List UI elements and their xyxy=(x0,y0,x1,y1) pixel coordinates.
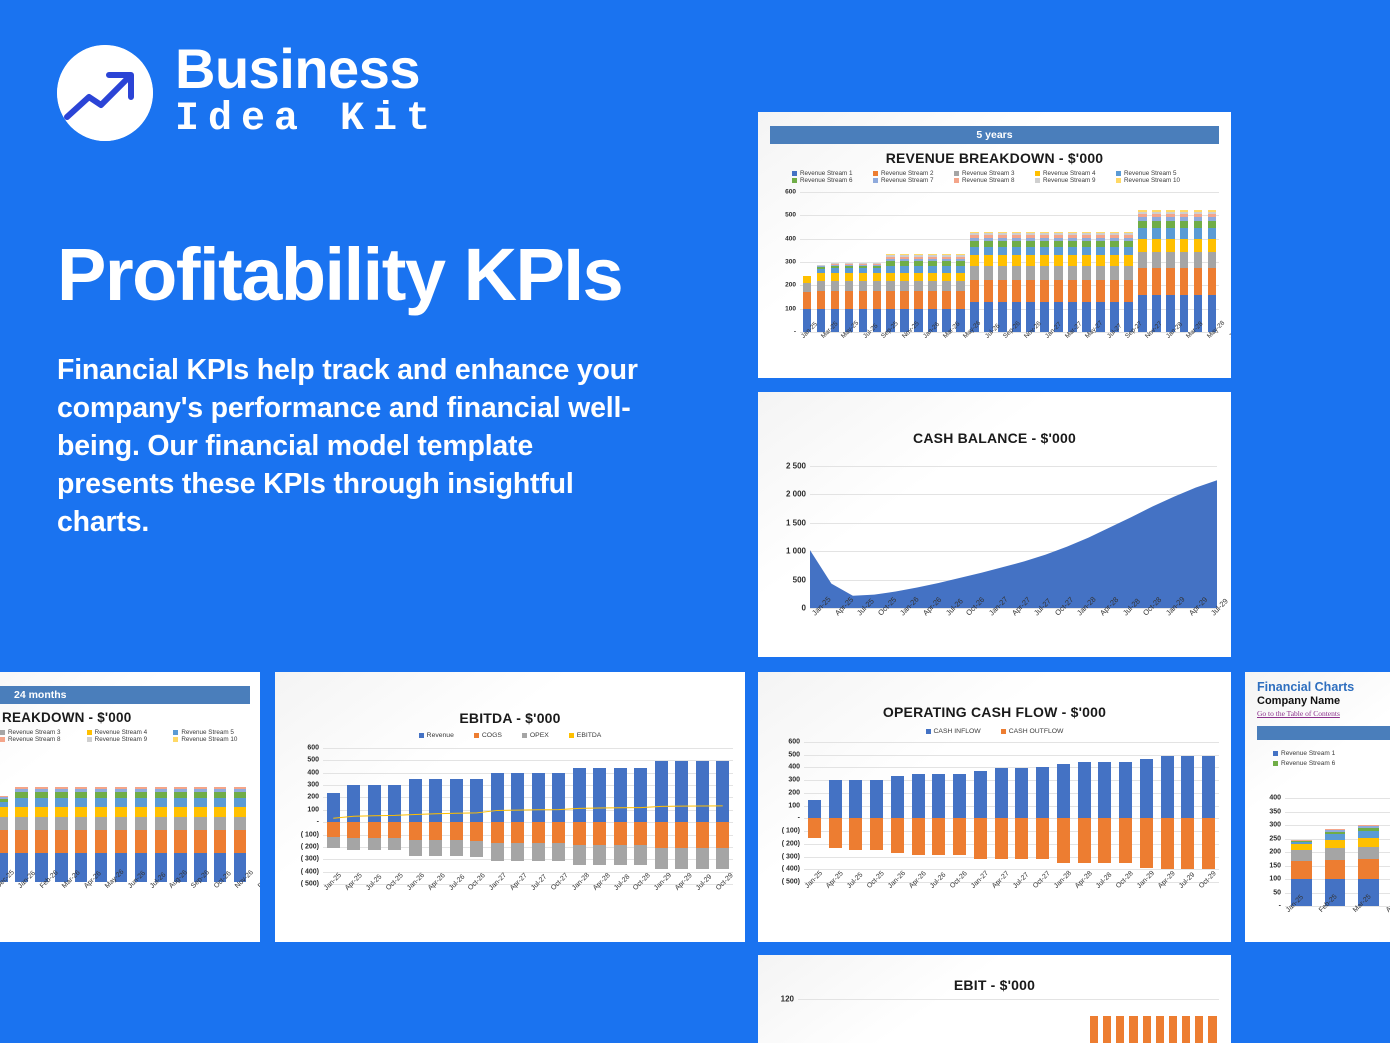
bar-segment xyxy=(1202,818,1215,869)
bar-column xyxy=(1193,999,1206,1043)
line-series xyxy=(323,748,733,884)
bar-segment xyxy=(1181,756,1194,819)
bar-column xyxy=(1140,999,1153,1043)
bar-column xyxy=(825,742,846,882)
bar-segment xyxy=(95,798,107,807)
legend-label: Revenue Stream 5 xyxy=(1124,170,1177,177)
bar-segment xyxy=(1208,221,1217,228)
bar-column xyxy=(171,764,191,882)
bar-segment xyxy=(891,818,904,852)
bar-segment xyxy=(194,807,206,817)
bar-column xyxy=(1012,742,1033,882)
table-of-contents-link[interactable]: Go to the Table of Contents xyxy=(1257,709,1390,718)
bar-segment xyxy=(998,266,1007,280)
bar-segment xyxy=(998,280,1007,302)
bar-segment xyxy=(984,266,993,280)
bar-column xyxy=(1074,742,1095,882)
bar-segment xyxy=(1040,280,1049,302)
legend-item: Revenue Stream 8 xyxy=(954,177,1035,184)
bar-column xyxy=(0,764,12,882)
y-axis-tick: ( 200) xyxy=(301,843,319,850)
company-name: Company Name xyxy=(1257,695,1390,707)
bar-column xyxy=(1149,192,1163,332)
bar-column xyxy=(811,999,824,1043)
bar-segment xyxy=(95,807,107,817)
panel-ebit: EBIT - $'000 12010080 xyxy=(758,955,1231,1043)
bar-column xyxy=(887,742,908,882)
legend-item: Revenue Stream 5 xyxy=(173,729,260,736)
bar-segment xyxy=(1208,239,1217,252)
bar-column xyxy=(1136,742,1157,882)
legend-swatch xyxy=(1116,171,1121,176)
y-axis-tick: 600 xyxy=(785,189,796,196)
x-axis-tick: Jul-28 xyxy=(1228,322,1231,339)
bar-segment xyxy=(1325,848,1346,859)
y-axis-tick: 2 500 xyxy=(786,462,806,471)
bar-column xyxy=(866,742,887,882)
y-axis-tick: ( 500) xyxy=(301,881,319,888)
bar-column xyxy=(151,764,171,882)
bar-segment xyxy=(1152,221,1161,228)
bar-segment xyxy=(1182,1016,1190,1043)
bar-segment xyxy=(1078,818,1091,863)
bar-segment xyxy=(873,281,882,292)
bar-column xyxy=(828,192,842,332)
bar-segment xyxy=(1161,756,1174,819)
bar-column xyxy=(1053,742,1074,882)
bar-segment xyxy=(1054,266,1063,280)
bar-segment xyxy=(998,247,1007,256)
legend-swatch xyxy=(474,733,479,738)
bar-segment xyxy=(174,830,186,852)
bar-segment xyxy=(1119,818,1132,863)
legend-item: EBITDA xyxy=(569,732,602,739)
bar-segment xyxy=(912,818,925,854)
bar-column xyxy=(1035,999,1048,1043)
bar-segment xyxy=(1015,818,1028,859)
bar-column xyxy=(1095,742,1116,882)
bar-column xyxy=(1010,192,1024,332)
bar-column xyxy=(798,999,811,1043)
legend-item: Revenue Stream 10 xyxy=(1116,177,1197,184)
bar-column xyxy=(842,192,856,332)
legend-item: Revenue Stream 4 xyxy=(1035,170,1116,177)
legend-item: Revenue Stream 5 xyxy=(1116,170,1197,177)
legend-item: Revenue Stream 8 xyxy=(0,736,87,743)
bar-segment xyxy=(1040,247,1049,256)
chart-title-operating-cash-flow: OPERATING CASH FLOW - $'000 xyxy=(758,704,1231,720)
legend-label: COGS xyxy=(482,732,502,739)
bar-segment xyxy=(174,798,186,807)
bar-segment xyxy=(1358,847,1379,859)
legend-label: Revenue Stream 5 xyxy=(181,729,234,736)
bar-segment xyxy=(1138,228,1147,239)
page-title: Profitability KPIs xyxy=(57,238,622,312)
bar-column xyxy=(1024,192,1038,332)
bar-segment xyxy=(817,309,826,332)
y-axis-tick: 120 xyxy=(781,995,794,1004)
bar-segment xyxy=(1181,818,1194,869)
bar-series xyxy=(0,764,250,882)
legend-label: Revenue Stream 4 xyxy=(95,729,148,736)
bar-segment xyxy=(75,830,87,852)
legend-label: Revenue Stream 1 xyxy=(1281,750,1335,757)
y-axis-tick: 400 xyxy=(788,764,800,771)
bar-segment xyxy=(970,247,979,256)
bar-column xyxy=(1048,999,1061,1043)
y-axis-tick: 300 xyxy=(785,259,796,266)
y-axis-tick: 300 xyxy=(307,782,319,789)
x-axis-labels: Jan-25Apr-25Jul-25Oct-25Jan-26Apr-26Jul-… xyxy=(804,882,1219,892)
bar-column xyxy=(12,764,32,882)
financial-charts-title: Financial Charts xyxy=(1257,680,1390,694)
bar-column xyxy=(837,999,850,1043)
y-axis-tick: 500 xyxy=(785,212,796,219)
y-axis-tick: ( 100) xyxy=(301,831,319,838)
legend-item: OPEX xyxy=(522,732,549,739)
y-axis-tick: 200 xyxy=(788,789,800,796)
hero-section: Business Idea Kit Profitability KPIs Fin… xyxy=(0,0,758,672)
bar-segment xyxy=(234,817,246,830)
chart-title-ebitda: EBITDA - $'000 xyxy=(275,710,745,726)
bar-segment xyxy=(1152,252,1161,268)
bar-column xyxy=(943,999,956,1043)
bar-segment xyxy=(1057,818,1070,863)
bar-segment xyxy=(1194,268,1203,295)
bar-segment xyxy=(803,292,812,308)
bar-segment xyxy=(1180,228,1189,239)
bar-column xyxy=(916,999,929,1043)
legend-swatch xyxy=(1035,178,1040,183)
bar-segment xyxy=(155,830,167,852)
y-axis-tick: 400 xyxy=(307,769,319,776)
bar-segment xyxy=(970,266,979,280)
y-axis-tick: 200 xyxy=(307,794,319,801)
bar-segment xyxy=(1096,280,1105,302)
bar-segment xyxy=(1096,255,1105,266)
bar-segment xyxy=(1129,1016,1137,1043)
bar-segment xyxy=(1124,255,1133,266)
x-axis-tick: Dec-26 xyxy=(257,869,260,890)
y-axis-tick: 300 xyxy=(788,777,800,784)
bar-segment xyxy=(1325,840,1346,848)
x-axis-labels: Jan-25Apr-25Jul-25Oct-25Jan-26Apr-26Jul-… xyxy=(323,884,733,894)
bar-segment xyxy=(859,273,868,281)
y-axis-tick: - xyxy=(794,329,796,336)
bar-segment xyxy=(0,807,8,817)
bar-segment xyxy=(214,807,226,817)
bar-segment xyxy=(55,853,67,883)
bar-segment xyxy=(928,266,937,273)
bar-segment xyxy=(1124,266,1133,280)
y-axis-tick: 50 xyxy=(1273,889,1281,896)
y-axis-tick: 400 xyxy=(785,235,796,242)
bar-segment xyxy=(932,774,945,818)
bar-segment xyxy=(859,309,868,332)
bar-column xyxy=(846,742,867,882)
bar-segment xyxy=(1156,1016,1164,1043)
legend-label: Revenue Stream 6 xyxy=(800,177,853,184)
y-axis-tick: ( 100) xyxy=(782,828,800,835)
bar-column xyxy=(1163,192,1177,332)
legend-label: EBITDA xyxy=(577,732,602,739)
bar-column xyxy=(800,192,814,332)
legend-swatch xyxy=(1273,761,1278,766)
bar-column xyxy=(912,192,926,332)
hero-description: Financial KPIs help track and enhance yo… xyxy=(57,352,657,541)
bar-segment xyxy=(928,281,937,292)
bar-segment xyxy=(115,830,127,852)
y-axis-tick: 500 xyxy=(788,751,800,758)
bar-segment xyxy=(808,818,821,838)
bar-segment xyxy=(953,774,966,818)
bar-column xyxy=(884,192,898,332)
legend-swatch xyxy=(873,171,878,176)
bar-column xyxy=(970,742,991,882)
bar-segment xyxy=(1040,255,1049,266)
y-axis-tick: 600 xyxy=(307,745,319,752)
y-axis-tick: ( 300) xyxy=(301,856,319,863)
bar-segment xyxy=(1138,239,1147,252)
legend-swatch xyxy=(792,178,797,183)
bar-column xyxy=(32,764,52,882)
bar-segment xyxy=(35,830,47,852)
y-axis-tick: 2 000 xyxy=(786,490,806,499)
panel-financial-charts: Financial Charts Company Name Go to the … xyxy=(1245,672,1390,942)
bar-column xyxy=(1157,742,1178,882)
bar-segment xyxy=(155,798,167,807)
bar-column xyxy=(1115,742,1136,882)
bar-segment xyxy=(849,818,862,849)
chart-title-revenue-breakdown-24m: REAKDOWN - $'000 xyxy=(0,710,260,725)
bar-segment xyxy=(912,774,925,818)
bar-column xyxy=(929,742,950,882)
bar-column xyxy=(111,764,131,882)
y-axis-tick: - xyxy=(1279,903,1281,910)
y-axis-tick: 100 xyxy=(785,305,796,312)
bar-segment xyxy=(849,780,862,819)
legend-swatch xyxy=(954,178,959,183)
y-axis-tick: 500 xyxy=(793,575,806,584)
period-label-5-years: 5 years xyxy=(770,126,1219,144)
bar-column xyxy=(991,742,1012,882)
bar-column xyxy=(814,192,828,332)
legend-item: Revenue Stream 9 xyxy=(1035,177,1116,184)
area-series xyxy=(810,466,1217,608)
bar-column xyxy=(1127,999,1140,1043)
bar-column xyxy=(903,999,916,1043)
bar-segment xyxy=(1012,266,1021,280)
bar-segment xyxy=(1124,247,1133,256)
bar-segment xyxy=(115,807,127,817)
bar-column xyxy=(996,192,1010,332)
legend-swatch xyxy=(87,737,92,742)
bar-column xyxy=(969,999,982,1043)
bar-segment xyxy=(817,273,826,281)
brand-name-primary: Business xyxy=(175,42,439,95)
bar-segment xyxy=(214,817,226,830)
bar-segment xyxy=(1325,860,1346,879)
bar-segment xyxy=(1358,838,1379,847)
legend-label: Revenue Stream 7 xyxy=(881,177,934,184)
bar-series xyxy=(800,192,1219,332)
bar-segment xyxy=(1040,266,1049,280)
bar-segment xyxy=(1054,247,1063,256)
bar-column xyxy=(804,742,825,882)
legend-swatch xyxy=(522,733,527,738)
bar-column xyxy=(877,999,890,1043)
legend-item: Revenue Stream 2 xyxy=(873,170,954,177)
bar-segment xyxy=(174,817,186,830)
bar-segment xyxy=(1166,221,1175,228)
bar-column xyxy=(210,764,230,882)
bar-segment xyxy=(900,281,909,292)
x-axis-labels: Jan-25Feb-25Mar-25Apr-25May-25Jun-25 xyxy=(1285,906,1390,916)
bar-segment xyxy=(942,266,951,273)
bar-segment xyxy=(914,273,923,281)
bar-segment xyxy=(831,291,840,309)
bar-segment xyxy=(873,273,882,281)
bar-column xyxy=(1178,742,1199,882)
bar-segment xyxy=(1082,255,1091,266)
bar-segment xyxy=(1096,266,1105,280)
bar-column xyxy=(1022,999,1035,1043)
bar-segment xyxy=(984,280,993,302)
bar-segment xyxy=(55,798,67,807)
bar-segment xyxy=(859,281,868,292)
y-axis-tick: 600 xyxy=(788,739,800,746)
legend-item: Revenue xyxy=(419,732,454,739)
legend-swatch xyxy=(173,730,178,735)
bar-column xyxy=(1037,192,1051,332)
y-axis-tick: 300 xyxy=(1269,822,1281,829)
bar-segment xyxy=(845,281,854,292)
legend-label: Revenue Stream 9 xyxy=(95,736,148,743)
bar-column xyxy=(1135,192,1149,332)
period-bar-fin xyxy=(1257,726,1390,740)
bar-column xyxy=(856,192,870,332)
bar-segment xyxy=(928,291,937,309)
bar-column xyxy=(1101,999,1114,1043)
y-axis-tick: 500 xyxy=(307,757,319,764)
bar-column xyxy=(1177,192,1191,332)
panel-revenue-breakdown-24m: 24 months REAKDOWN - $'000 Revenue Strea… xyxy=(0,672,260,942)
bar-segment xyxy=(1194,239,1203,252)
bar-segment xyxy=(1208,1016,1216,1043)
bar-segment xyxy=(15,817,27,830)
bar-segment xyxy=(1180,239,1189,252)
bar-column xyxy=(230,764,250,882)
bar-segment xyxy=(1082,280,1091,302)
bar-segment xyxy=(845,291,854,309)
bar-segment xyxy=(1110,255,1119,266)
legend-label: Revenue Stream 9 xyxy=(1043,177,1096,184)
bar-column xyxy=(1107,192,1121,332)
legend-swatch xyxy=(1116,178,1121,183)
bar-segment xyxy=(135,798,147,807)
bar-column xyxy=(956,999,969,1043)
bar-segment xyxy=(870,780,883,819)
legend-label: OPEX xyxy=(530,732,549,739)
y-axis-tick: ( 200) xyxy=(782,840,800,847)
y-axis-tick: ( 400) xyxy=(782,866,800,873)
bar-segment xyxy=(1026,266,1035,280)
panel-revenue-breakdown: 5 years REVENUE BREAKDOWN - $'000 Revenu… xyxy=(758,112,1231,378)
bar-segment xyxy=(234,830,246,852)
bar-segment xyxy=(194,798,206,807)
bar-segment xyxy=(1291,861,1312,879)
legend-swatch xyxy=(419,733,424,738)
bar-column xyxy=(995,999,1008,1043)
bar-segment xyxy=(1138,221,1147,228)
bar-series xyxy=(798,999,1219,1043)
bar-segment xyxy=(1138,252,1147,268)
legend-swatch xyxy=(954,171,959,176)
bar-segment xyxy=(55,817,67,830)
bar-segment xyxy=(75,817,87,830)
legend-label: Revenue Stream 6 xyxy=(1281,760,1335,767)
bar-segment xyxy=(873,291,882,309)
legend-label: CASH INFLOW xyxy=(934,728,981,735)
bar-segment xyxy=(870,818,883,850)
legend-item: COGS xyxy=(474,732,502,739)
legend-item: Revenue Stream 6 xyxy=(1273,760,1390,767)
bar-segment xyxy=(174,807,186,817)
bar-segment xyxy=(1026,255,1035,266)
bar-segment xyxy=(942,273,951,281)
bar-column xyxy=(890,999,903,1043)
bar-segment xyxy=(135,817,147,830)
y-axis-tick: 150 xyxy=(1269,862,1281,869)
legend-label: Revenue Stream 8 xyxy=(8,736,61,743)
bar-segment xyxy=(1119,762,1132,819)
bar-column xyxy=(940,192,954,332)
bar-column xyxy=(1079,192,1093,332)
legend-swatch xyxy=(0,730,5,735)
legend-label: Revenue Stream 10 xyxy=(1124,177,1180,184)
legend-swatch xyxy=(792,171,797,176)
bar-segment xyxy=(900,273,909,281)
bar-segment xyxy=(0,817,8,830)
bar-segment xyxy=(1140,818,1153,868)
bar-segment xyxy=(886,291,895,309)
x-axis-labels: Jan-25Apr-25Jul-25Oct-25Jan-26Apr-26Jul-… xyxy=(810,608,1217,620)
bar-column xyxy=(1198,742,1219,882)
bar-segment xyxy=(1208,228,1217,239)
bar-segment xyxy=(914,291,923,309)
bar-segment xyxy=(831,273,840,281)
bar-segment xyxy=(55,830,67,852)
bar-segment xyxy=(1194,228,1203,239)
bar-column xyxy=(898,192,912,332)
bar-segment xyxy=(1166,268,1175,295)
bar-segment xyxy=(1090,1016,1098,1043)
chart-legend-operating-cash-flow: CASH INFLOWCASH OUTFLOW xyxy=(758,728,1231,735)
bar-segment xyxy=(932,818,945,855)
bar-column xyxy=(1180,999,1193,1043)
bar-segment xyxy=(1291,850,1312,860)
bar-segment xyxy=(1180,268,1189,295)
bar-segment xyxy=(1140,759,1153,819)
y-axis-tick: 200 xyxy=(1269,849,1281,856)
bar-column xyxy=(982,192,996,332)
bar-segment xyxy=(1124,280,1133,302)
bar-segment xyxy=(194,830,206,852)
bar-segment xyxy=(1180,252,1189,268)
bar-segment xyxy=(15,798,27,807)
bar-segment xyxy=(135,830,147,852)
bar-segment xyxy=(1026,280,1035,302)
